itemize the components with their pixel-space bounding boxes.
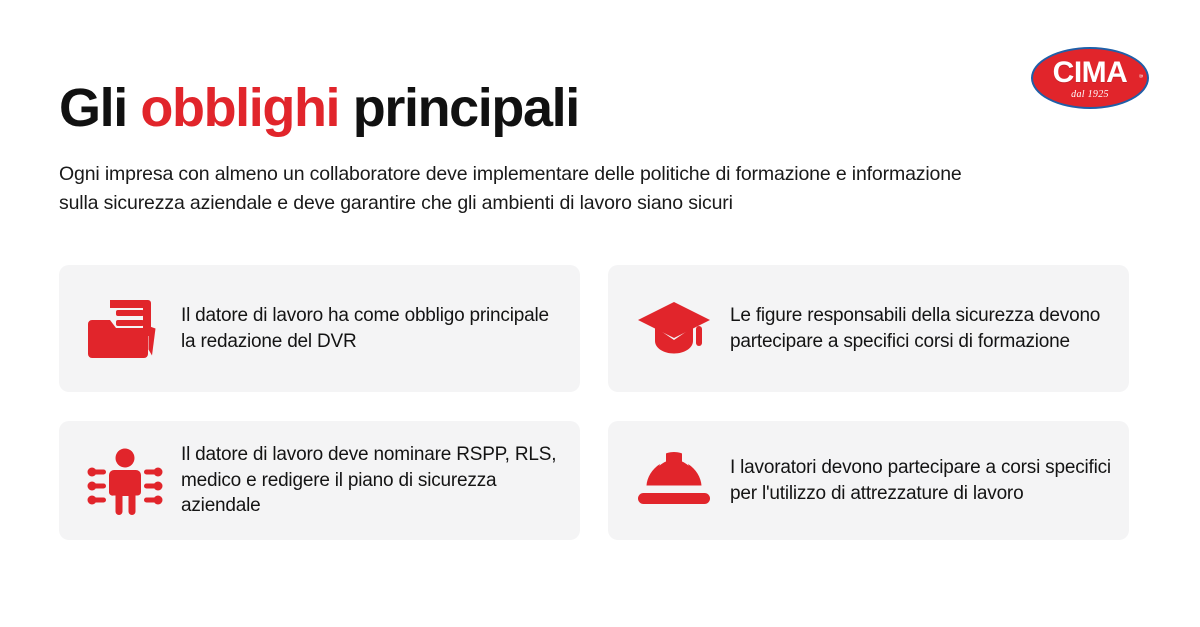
logo-ellipse: CIMA dal 1925 [1031, 47, 1149, 109]
registered-trademark-icon: ® [1137, 74, 1143, 78]
card-appointments: Il datore di lavoro deve nominare RSPP, … [59, 421, 580, 540]
logo-tagline: dal 1925 [1071, 90, 1109, 100]
card-text: Le figure responsabili della sicurezza d… [730, 303, 1111, 353]
page-title-part2: principali [339, 78, 579, 138]
card-text: Il datore di lavoro deve nominare RSPP, … [181, 442, 562, 519]
graduation-cap-icon [632, 293, 716, 365]
logo-wordmark: CIMA [1053, 58, 1128, 88]
page-title: Gli obblighi principali [59, 80, 579, 137]
folder-document-icon [83, 293, 167, 365]
page-title-part1: Gli [59, 78, 140, 138]
card-dvr: Il datore di lavoro ha come obbligo prin… [59, 265, 580, 392]
cima-logo: CIMA dal 1925 ® [1031, 47, 1149, 109]
obligations-card-grid: Il datore di lavoro ha come obbligo prin… [59, 265, 1129, 540]
page-title-accent: obblighi [140, 78, 339, 138]
card-text: Il datore di lavoro ha come obbligo prin… [181, 303, 562, 353]
infographic-page: CIMA dal 1925 ® Gli obblighi principali … [0, 0, 1200, 627]
card-training-managers: Le figure responsabili della sicurezza d… [608, 265, 1129, 392]
person-network-icon [83, 445, 167, 517]
hard-hat-icon [632, 445, 716, 517]
card-text: I lavoratori devono partecipare a corsi … [730, 455, 1111, 507]
page-subtitle: Ogni impresa con almeno un collaboratore… [59, 160, 989, 219]
card-equipment-training: I lavoratori devono partecipare a corsi … [608, 421, 1129, 540]
